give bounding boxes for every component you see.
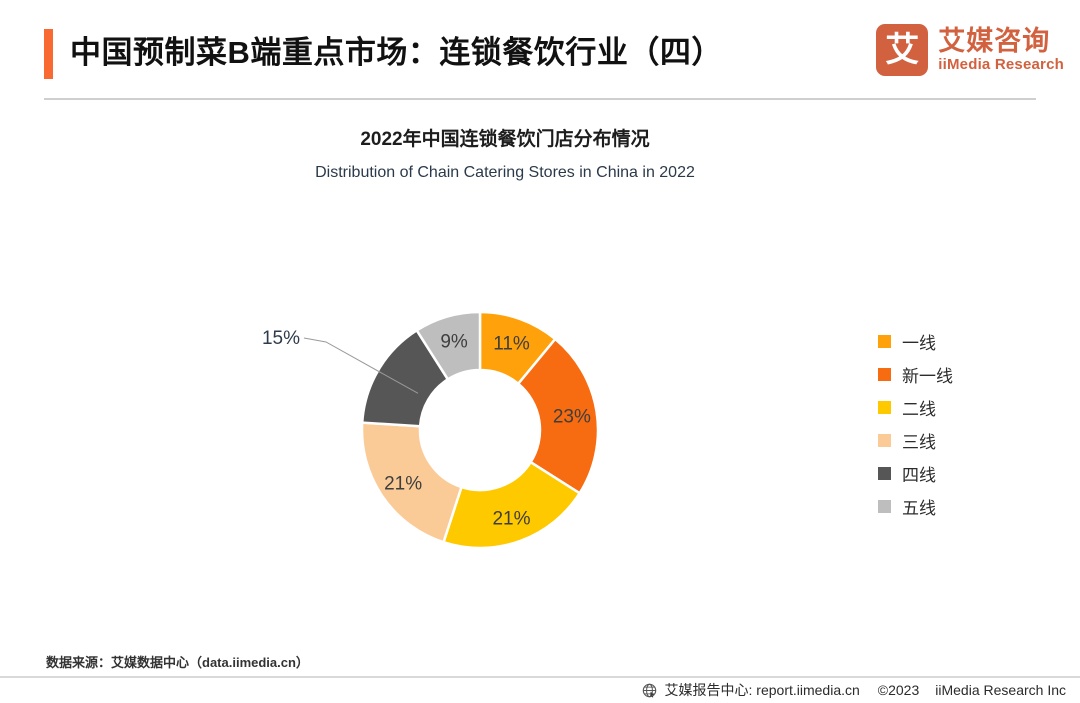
- legend-item[interactable]: 二线: [878, 391, 1038, 424]
- footer-company: iiMedia Research Inc: [935, 682, 1066, 698]
- title-accent-bar: [44, 29, 53, 79]
- donut-slice-label: 15%: [262, 328, 300, 349]
- legend-item-label: 三线: [902, 428, 936, 453]
- legend-item[interactable]: 四线: [878, 457, 1038, 490]
- page-header: 中国预制菜B端重点市场：连锁餐饮行业（四） 艾 艾媒咨询 iiMedia Res…: [0, 0, 1080, 100]
- chart-legend: 一线新一线二线三线四线五线: [878, 325, 1038, 523]
- donut-slice-label: 21%: [384, 473, 422, 494]
- data-source-note: 数据来源：艾媒数据中心（data.iimedia.cn）: [46, 652, 309, 671]
- legend-swatch-icon: [878, 368, 891, 381]
- legend-item-label: 四线: [902, 461, 936, 486]
- logo-wordmark: 艾媒咨询 iiMedia Research: [938, 26, 1064, 74]
- globe-icon: [642, 683, 657, 698]
- donut-slice-label: 21%: [492, 509, 530, 530]
- footer-copyright: ©2023: [878, 682, 919, 698]
- footer-report-center[interactable]: 艾媒报告中心: report.iimedia.cn: [665, 680, 860, 700]
- donut-slice-label: 23%: [553, 406, 591, 427]
- legend-item[interactable]: 一线: [878, 325, 1038, 358]
- legend-swatch-icon: [878, 335, 891, 348]
- logo-mark-icon: 艾: [876, 24, 928, 76]
- legend-item-label: 五线: [902, 494, 936, 519]
- donut-slice-label: 9%: [440, 332, 468, 353]
- page-footer: 艾媒报告中心: report.iimedia.cn ©2023 iiMedia …: [0, 678, 1080, 702]
- legend-swatch-icon: [878, 401, 891, 414]
- legend-item-label: 一线: [902, 329, 936, 354]
- logo-name-en: iiMedia Research: [938, 56, 1064, 74]
- page-title: 中国预制菜B端重点市场：连锁餐饮行业（四）: [70, 30, 723, 76]
- legend-item[interactable]: 五线: [878, 490, 1038, 523]
- legend-item[interactable]: 三线: [878, 424, 1038, 457]
- chart-title: 2022年中国连锁餐饮门店分布情况: [0, 124, 1010, 151]
- legend-swatch-icon: [878, 467, 891, 480]
- donut-chart: 11%23%21%21%15%9%: [220, 200, 740, 620]
- logo-name-cn: 艾媒咨询: [938, 26, 1064, 56]
- chart-subtitle: Distribution of Chain Catering Stores in…: [0, 164, 1010, 182]
- legend-item-label: 新一线: [902, 362, 953, 387]
- brand-logo: 艾 艾媒咨询 iiMedia Research: [876, 24, 1064, 76]
- legend-item[interactable]: 新一线: [878, 358, 1038, 391]
- donut-chart-svg[interactable]: 11%23%21%21%15%9%: [220, 200, 740, 620]
- header-divider: [44, 98, 1036, 100]
- legend-swatch-icon: [878, 434, 891, 447]
- legend-swatch-icon: [878, 500, 891, 513]
- legend-item-label: 二线: [902, 395, 936, 420]
- donut-slice-label: 11%: [493, 333, 530, 354]
